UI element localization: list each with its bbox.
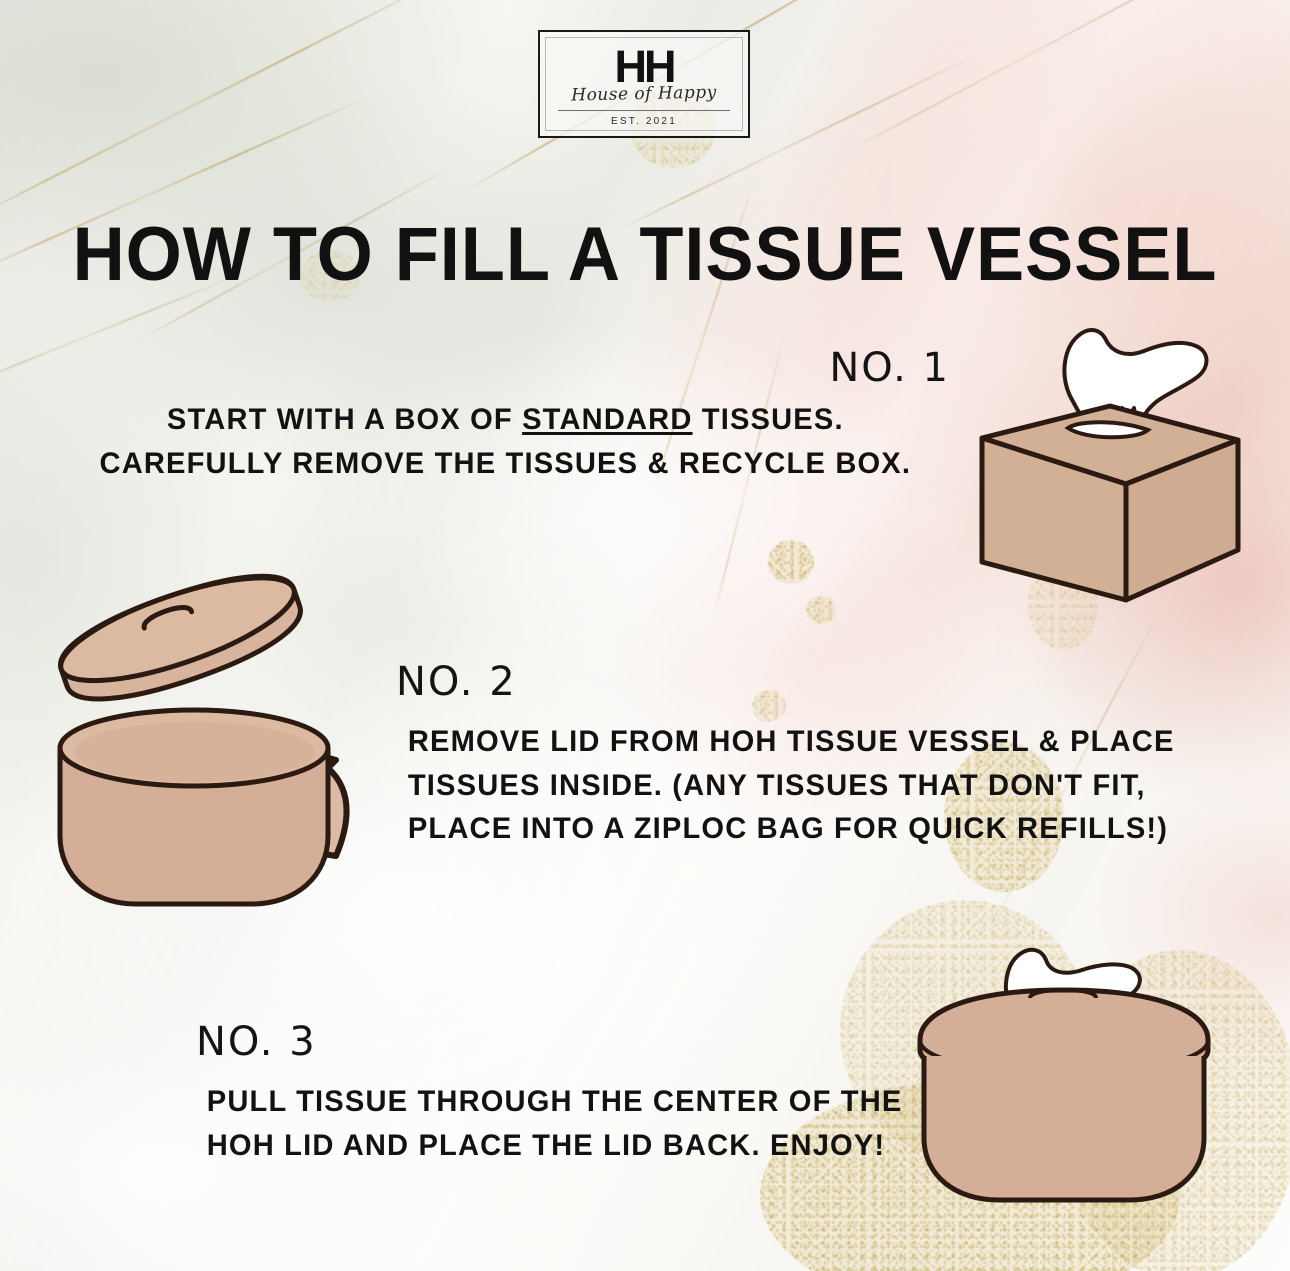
step-3-text: PULL TISSUE THROUGH THE CENTER OF THE HO… (207, 1080, 903, 1167)
logo-monogram: HH (540, 44, 748, 89)
brand-logo: HH House of Happy EST. 2021 (538, 30, 750, 138)
step-3-number: NO. 3 (196, 1022, 317, 1062)
step-3-line-1: PULL TISSUE THROUGH THE CENTER OF THE (207, 1080, 903, 1124)
vessel-closed-illustration (898, 906, 1228, 1206)
step-2-number: NO. 2 (396, 662, 517, 702)
step-1-line-1-before: START WITH A BOX OF (167, 403, 522, 436)
step-2-line-3: PLACE INTO A ZIPLOC BAG FOR QUICK REFILL… (408, 807, 1175, 851)
step-1-number: NO. 1 (829, 348, 950, 388)
vessel-open-illustration (36, 556, 386, 916)
logo-established: EST. 2021 (540, 116, 748, 127)
logo-divider (558, 110, 730, 111)
step-3-line-2: HOH LID AND PLACE THE LID BACK. ENJOY! (207, 1124, 903, 1168)
tissue-box-illustration (960, 278, 1260, 618)
logo-brand-name: House of Happy (540, 84, 748, 105)
step-2-line-1: REMOVE LID FROM HOH TISSUE VESSEL & PLAC… (408, 720, 1175, 764)
step-2-line-2: TISSUES INSIDE. (ANY TISSUES THAT DON'T … (408, 764, 1175, 808)
infographic-poster: HH House of Happy EST. 2021 HOW TO FILL … (0, 0, 1290, 1271)
step-1-emphasis: STANDARD (522, 403, 692, 436)
step-1-line-1-after: TISSUES. (693, 403, 844, 436)
step-1-line-2: CAREFULLY REMOVE THE TISSUES & RECYCLE B… (19, 442, 991, 486)
step-1-line-1: START WITH A BOX OF STANDARD TISSUES. (19, 398, 991, 442)
step-2-text: REMOVE LID FROM HOH TISSUE VESSEL & PLAC… (408, 720, 1175, 851)
